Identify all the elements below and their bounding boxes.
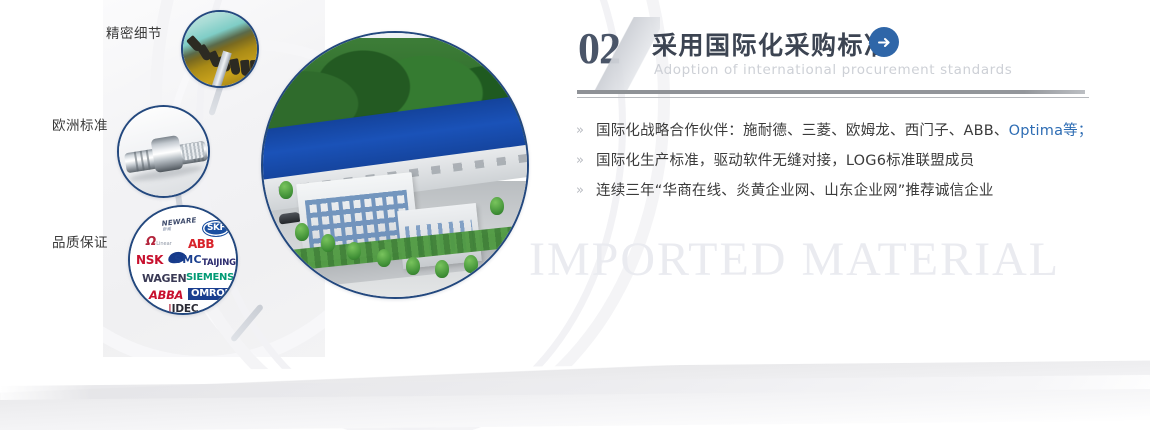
brand-logos-circle: NEWARE 新威 SKF ΩLinear ABB NSK SMC TAIJIN… <box>128 205 238 315</box>
list-item: » 国际化生产标准，驱动软件无缝对接，LOG6标准联盟成员 <box>576 146 1146 176</box>
factory-image <box>263 33 527 297</box>
list-item: » 国际化战略合作伙伴：施耐德、三菱、欧姆龙、西门子、ABB、Optima等； <box>576 116 1146 146</box>
logo-wagen: WAGEN <box>142 273 186 284</box>
label-european-standard: 欧洲标准 <box>52 114 108 134</box>
logo-taijing: TAIJING <box>202 259 236 268</box>
logo-omega-sub: Linear <box>156 241 172 247</box>
gear-circle <box>181 10 259 88</box>
tree <box>347 242 361 260</box>
list-item-highlight: Optima等 <box>1009 123 1078 139</box>
watermark-text: IMPORTED MATERIAL <box>529 232 1060 287</box>
logo-omron: OMRON <box>188 288 236 300</box>
factory-circle <box>261 31 529 299</box>
logo-omega-mark: Ω <box>146 234 156 248</box>
tree <box>321 234 335 252</box>
divider-thin <box>577 97 1089 98</box>
tree <box>435 260 449 278</box>
logo-siemens: SIEMENS <box>186 273 234 283</box>
bullet-marker-icon: » <box>576 146 596 176</box>
bullet-marker-icon: » <box>576 116 596 146</box>
tree <box>406 257 420 275</box>
list-item-text: 国际化战略合作伙伴：施耐德、三菱、欧姆龙、西门子、ABB、Optima等； <box>596 116 1093 146</box>
logo-smc: SMC <box>174 254 202 265</box>
content-column: 02 采用国际化采购标准 Adoption of international p… <box>574 0 1150 430</box>
list-item-lead: 连续三年“华商在线、炎黄企业网、山东企业网”推荐诚信企业 <box>596 183 994 199</box>
arrow-right-icon[interactable] <box>869 27 899 57</box>
list-item-lead: 国际化战略合作伙伴：施耐德、三菱、欧姆龙、西门子、ABB、 <box>596 123 1009 139</box>
tree <box>490 197 504 215</box>
list-item-tail: ； <box>1078 123 1093 139</box>
tree <box>377 249 391 267</box>
section-number: 02 <box>578 24 620 73</box>
tree <box>464 255 478 273</box>
logo-abba: ABBA <box>149 290 183 302</box>
label-quality-assurance: 品质保证 <box>52 231 108 251</box>
ballscrew-nut <box>151 135 184 173</box>
bullet-marker-icon: » <box>576 176 596 206</box>
section-subtitle: Adoption of international procurement st… <box>654 62 1012 78</box>
logo-nsk: NSK <box>136 254 163 266</box>
label-precision-detail: 精密细节 <box>106 22 162 42</box>
list-item-text: 连续三年“华商在线、炎黄企业网、山东企业网”推荐诚信企业 <box>596 176 994 206</box>
logo-abb: ABB <box>188 238 214 250</box>
list-item-text: 国际化生产标准，驱动软件无缝对接，LOG6标准联盟成员 <box>596 146 974 176</box>
tree <box>295 223 309 241</box>
promo-banner: 精密细节 欧洲标准 品质保证 <box>0 0 1150 430</box>
ballscrew-thread-end <box>181 141 205 160</box>
list-item: » 连续三年“华商在线、炎黄企业网、山东企业网”推荐诚信企业 <box>576 176 1146 206</box>
list-item-lead: 国际化生产标准，驱动软件无缝对接，LOG6标准联盟成员 <box>596 153 974 169</box>
tree <box>279 181 293 199</box>
bullet-list: » 国际化战略合作伙伴：施耐德、三菱、欧姆龙、西门子、ABB、Optima等； … <box>576 116 1146 206</box>
divider-thick <box>577 90 1085 94</box>
logo-idec-text: IDEC <box>172 303 199 315</box>
ballscrew-circle <box>117 105 210 198</box>
logo-omega: ΩLinear <box>146 235 172 247</box>
logo-idec: |IDEC <box>168 304 198 315</box>
section-title: 采用国际化采购标准 <box>652 26 891 62</box>
logo-skf: SKF <box>202 220 230 237</box>
